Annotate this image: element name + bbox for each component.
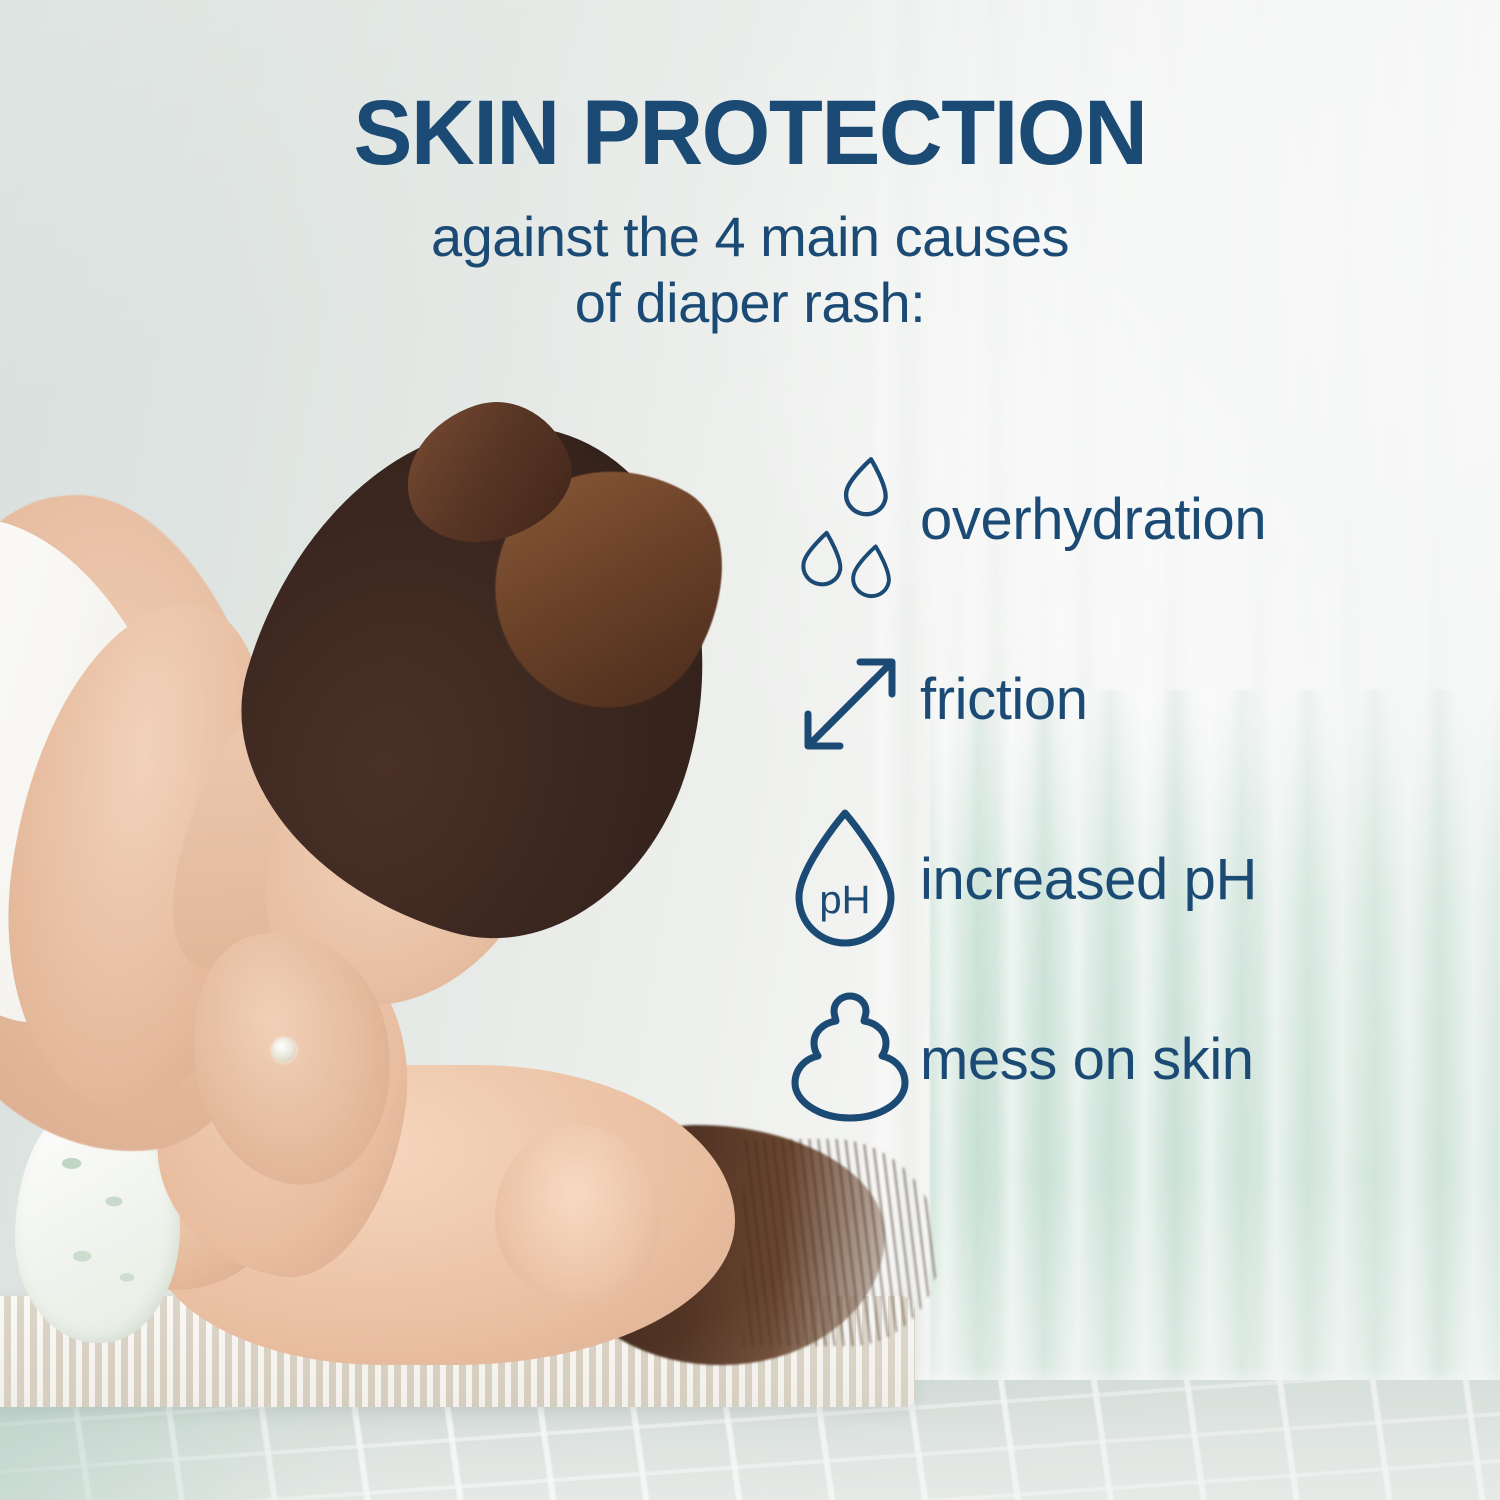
page-subtitle: against the 4 main causes of diaper rash… bbox=[0, 204, 1500, 335]
cause-item-overhydration: overhydration bbox=[790, 430, 1430, 610]
cause-item-increased-ph: pH increased pH bbox=[790, 790, 1430, 970]
cause-item-mess-on-skin: mess on skin bbox=[790, 970, 1430, 1150]
subtitle-line-2: of diaper rash: bbox=[0, 270, 1500, 336]
headline-block: SKIN PROTECTION against the 4 main cause… bbox=[0, 88, 1500, 335]
friction-arrows-icon bbox=[790, 625, 920, 775]
baby-head bbox=[495, 1125, 660, 1305]
causes-list: overhydration friction pH bbox=[790, 430, 1430, 1150]
page-title: SKIN PROTECTION bbox=[30, 88, 1470, 178]
water-drops-icon bbox=[790, 445, 920, 595]
ph-icon-text: pH bbox=[819, 878, 870, 922]
subtitle-line-1: against the 4 main causes bbox=[0, 204, 1500, 270]
wedding-ring bbox=[272, 1038, 296, 1062]
cause-label: overhydration bbox=[920, 491, 1266, 549]
mess-swirl-icon bbox=[790, 985, 920, 1135]
ph-drop-icon: pH bbox=[790, 805, 920, 955]
skin-protection-poster: SKIN PROTECTION against the 4 main cause… bbox=[0, 0, 1500, 1500]
cause-label: increased pH bbox=[920, 851, 1257, 909]
cause-item-friction: friction bbox=[790, 610, 1430, 790]
cause-label: mess on skin bbox=[920, 1031, 1254, 1089]
cause-label: friction bbox=[920, 671, 1088, 729]
